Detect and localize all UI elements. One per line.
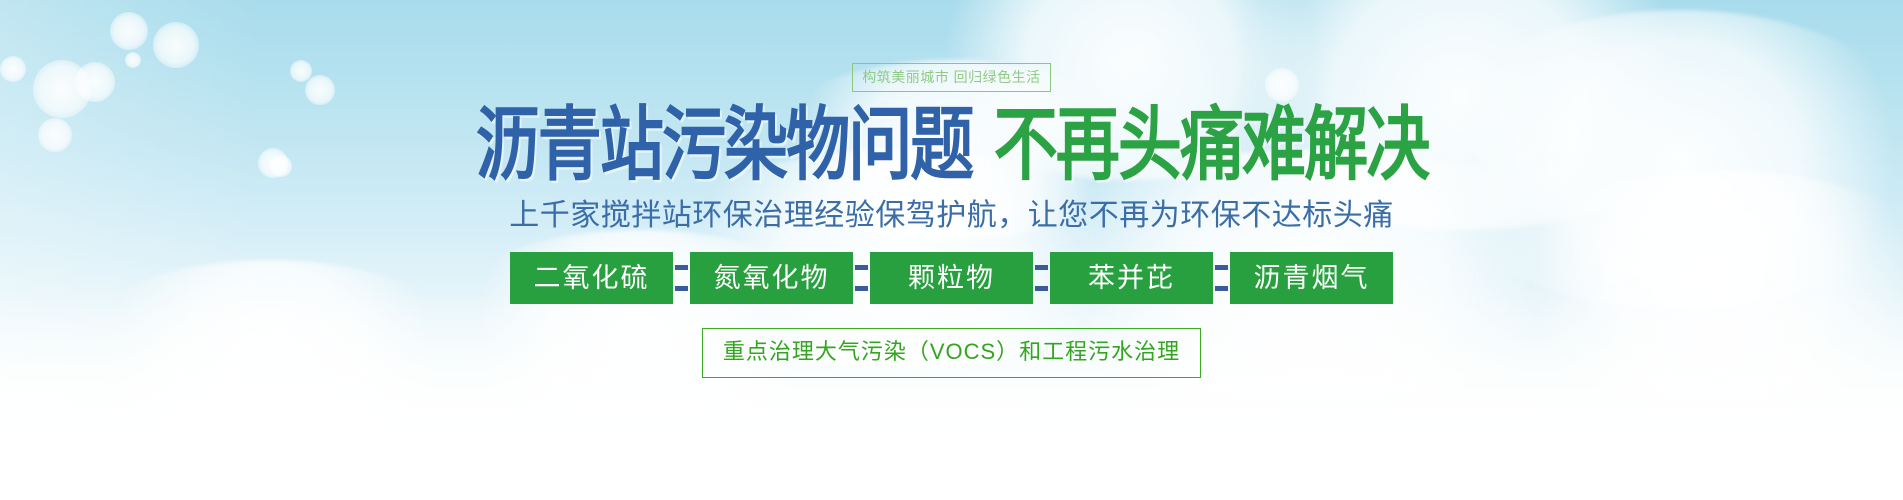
dash-mark-bottom — [855, 286, 868, 291]
eyebrow-tag: 构筑美丽城市 回归绿色生活 — [852, 63, 1050, 92]
pill-label: 氮氧化物 — [714, 265, 830, 292]
pill-separator — [673, 252, 690, 304]
pill-label: 颗粒物 — [908, 265, 995, 292]
pill-label: 二氧化硫 — [534, 265, 650, 292]
pill-item-3[interactable]: 颗粒物 — [870, 252, 1033, 304]
dash-mark-top — [855, 265, 868, 270]
pill-item-1[interactable]: 二氧化硫 — [510, 252, 673, 304]
dash-mark-bottom — [675, 286, 688, 291]
hero-banner: 构筑美丽城市 回归绿色生活 沥青站污染物问题 不再头痛难解决 上千家搅拌站环保治… — [0, 0, 1903, 500]
dash-mark-top — [1035, 265, 1048, 270]
focus-statement-box: 重点治理大气污染（VOCS）和工程污水治理 — [702, 328, 1201, 378]
banner-content: 构筑美丽城市 回归绿色生活 沥青站污染物问题 不再头痛难解决 上千家搅拌站环保治… — [0, 0, 1903, 500]
pill-separator — [1033, 252, 1050, 304]
pill-separator — [1213, 252, 1230, 304]
dash-mark-top — [1215, 265, 1228, 270]
dash-mark-bottom — [1215, 286, 1228, 291]
headline-green-text: 不再头痛难解决 — [993, 103, 1428, 188]
pollutant-pill-row: 二氧化硫 氮氧化物 颗粒物 苯并芘 — [510, 252, 1393, 304]
subheadline: 上千家搅拌站环保治理经验保驾护航，让您不再为环保不达标头痛 — [509, 199, 1394, 232]
dash-mark-bottom — [1035, 286, 1048, 291]
pill-item-4[interactable]: 苯并芘 — [1050, 252, 1213, 304]
page-title: 沥青站污染物问题 不再头痛难解决 — [475, 103, 1428, 188]
pill-label: 苯并芘 — [1088, 265, 1175, 292]
pill-item-5[interactable]: 沥青烟气 — [1230, 252, 1393, 304]
headline-blue-text: 沥青站污染物问题 — [475, 103, 972, 188]
pill-label: 沥青烟气 — [1254, 265, 1370, 292]
dash-mark-top — [675, 265, 688, 270]
pill-item-2[interactable]: 氮氧化物 — [690, 252, 853, 304]
pill-separator — [853, 252, 870, 304]
